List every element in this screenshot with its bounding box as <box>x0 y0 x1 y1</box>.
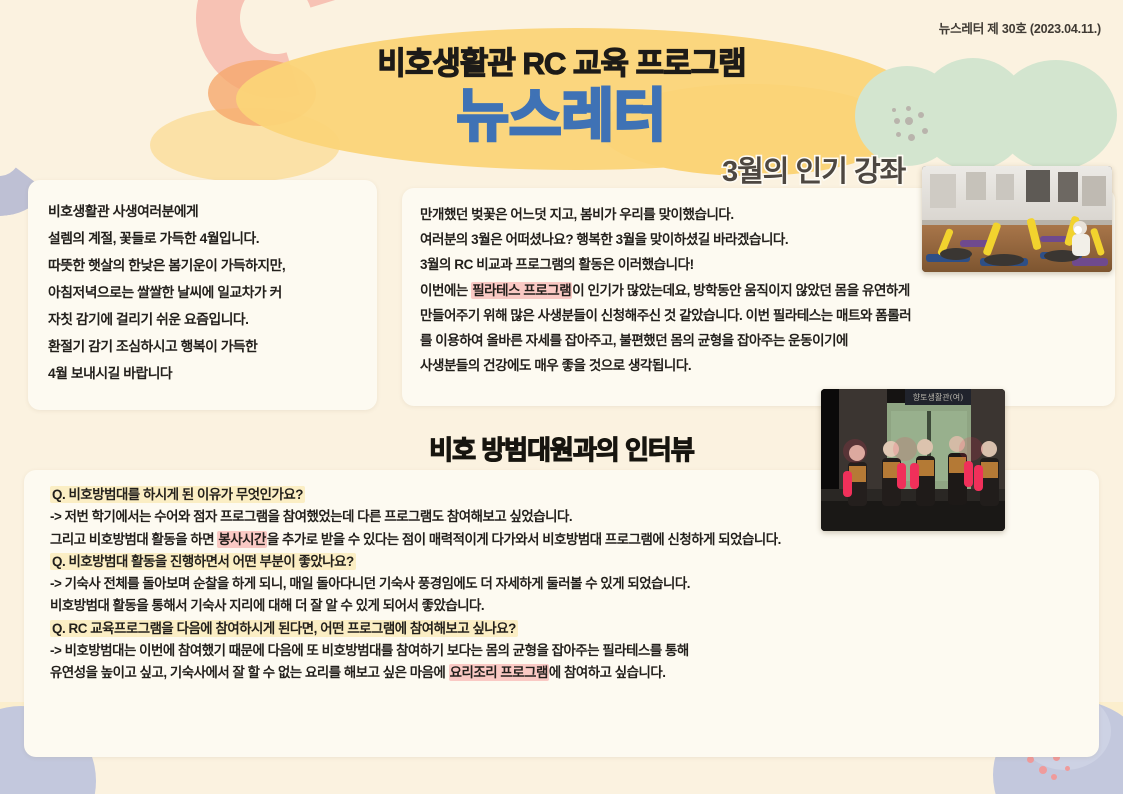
volunteer-hours-highlight: 봉사시간 <box>217 531 266 548</box>
interview-answer-line: 그리고 비호방범대 활동을 하면 봉사시간을 추가로 받을 수 있다는 점이 매… <box>50 529 1079 551</box>
interview-answer-line: 유연성을 높이고 싶고, 기숙사에서 잘 할 수 없는 요리를 해보고 싶은 마… <box>50 662 1079 684</box>
march-line-pre: 이번에는 <box>420 283 471 298</box>
interview-question: Q. RC 교육프로그램을 다음에 참여하시게 된다면, 어떤 프로그램에 참여… <box>50 618 1079 640</box>
answer-post: 을 추가로 받을 수 있다는 점이 매력적이게 다가와서 비호방범대 프로그램에… <box>267 532 781 547</box>
march-line: 사생분들의 건강에도 매우 좋을 것으로 생각됩니다. <box>420 353 1099 378</box>
march-line: 를 이용하여 올바른 자세를 잡아주고, 불편했던 몸의 균형을 잡아주는 운동… <box>420 328 1099 353</box>
interview-answer-line: -> 기숙사 전체를 돌아보며 순찰을 하게 되니, 매일 돌아다니던 기숙사 … <box>50 573 1079 595</box>
greeting-line: 환절기 감기 조심하시고 행복이 가득한 <box>48 333 357 360</box>
svg-text:향토생활관(여): 향토생활관(여) <box>913 392 963 402</box>
newsletter-title-block: 비호생활관 RC 교육 프로그램 뉴스레터 <box>0 38 1123 147</box>
answer-pre: 그리고 비호방범대 활동을 하면 <box>50 532 217 547</box>
bottom-band-inner-decoration <box>0 754 1123 794</box>
march-line: 만들어주기 위해 많은 사생분들이 신청해주신 것 같았습니다. 이번 필라테스… <box>420 303 1099 328</box>
answer-pre: 유연성을 높이고 싶고, 기숙사에서 잘 할 수 없는 요리를 해보고 싶은 마… <box>50 665 449 680</box>
newsletter-page: 뉴스레터 제 30호 (2023.04.11.) 비호생활관 RC 교육 프로그… <box>0 0 1123 794</box>
greeting-line: 4월 보내시길 바랍니다 <box>48 360 357 387</box>
greeting-line: 자칫 감기에 걸리기 쉬운 요즘입니다. <box>48 306 357 333</box>
march-line-post: 이 인기가 많았는데요, 방학동안 움직이지 않았던 몸을 유연하게 <box>572 283 910 298</box>
pilates-class-photo <box>922 166 1112 272</box>
greeting-line: 따뜻한 햇살의 한낮은 봄기운이 가득하지만, <box>48 252 357 279</box>
page-title: 비호생활관 RC 교육 프로그램 <box>0 38 1123 83</box>
newsletter-wordmark: 뉴스레터 <box>0 87 1123 147</box>
pilates-program-highlight: 필라테스 프로그램 <box>471 282 572 299</box>
cooking-program-highlight: 요리조리 프로그램 <box>449 664 549 681</box>
greeting-line: 설렘의 계절, 꽃들로 가득한 4월입니다. <box>48 225 357 252</box>
greeting-card: 비호생활관 사생여러분에게 설렘의 계절, 꽃들로 가득한 4월입니다. 따뜻한… <box>28 180 377 410</box>
greeting-line: 아침저녁으로는 쌀쌀한 날씨에 일교차가 커 <box>48 279 357 306</box>
interview-answer-line: 비호방범대 활동을 통해서 기숙사 지리에 대해 더 잘 알 수 있게 되어서 … <box>50 595 1079 617</box>
greeting-line: 비호생활관 사생여러분에게 <box>48 198 357 225</box>
interview-answer-line: -> 비호방범대는 이번에 참여했기 때문에 다음에 또 비호방범대를 참여하기… <box>50 640 1079 662</box>
interview-question-text: Q. 비호방범대를 하시게 된 이유가 무엇인가요? <box>50 486 305 503</box>
night-patrol-team-photo: 향토생활관(여) <box>821 389 1005 531</box>
newsletter-issue-label: 뉴스레터 제 30호 (2023.04.11.) <box>939 18 1101 37</box>
march-line: 이번에는 필라테스 프로그램이 인기가 많았는데요, 방학동안 움직이지 않았던… <box>420 278 1099 303</box>
interview-question-text: Q. RC 교육프로그램을 다음에 참여하시게 된다면, 어떤 프로그램에 참여… <box>50 620 518 637</box>
answer-post: 에 참여하고 싶습니다. <box>549 665 666 680</box>
interview-question: Q. 비호방범대 활동을 진행하면서 어떤 부분이 좋았나요? <box>50 551 1079 573</box>
popular-course-heading: 3월의 인기 강좌 <box>722 148 905 190</box>
interview-question-text: Q. 비호방범대 활동을 진행하면서 어떤 부분이 좋았나요? <box>50 553 356 570</box>
